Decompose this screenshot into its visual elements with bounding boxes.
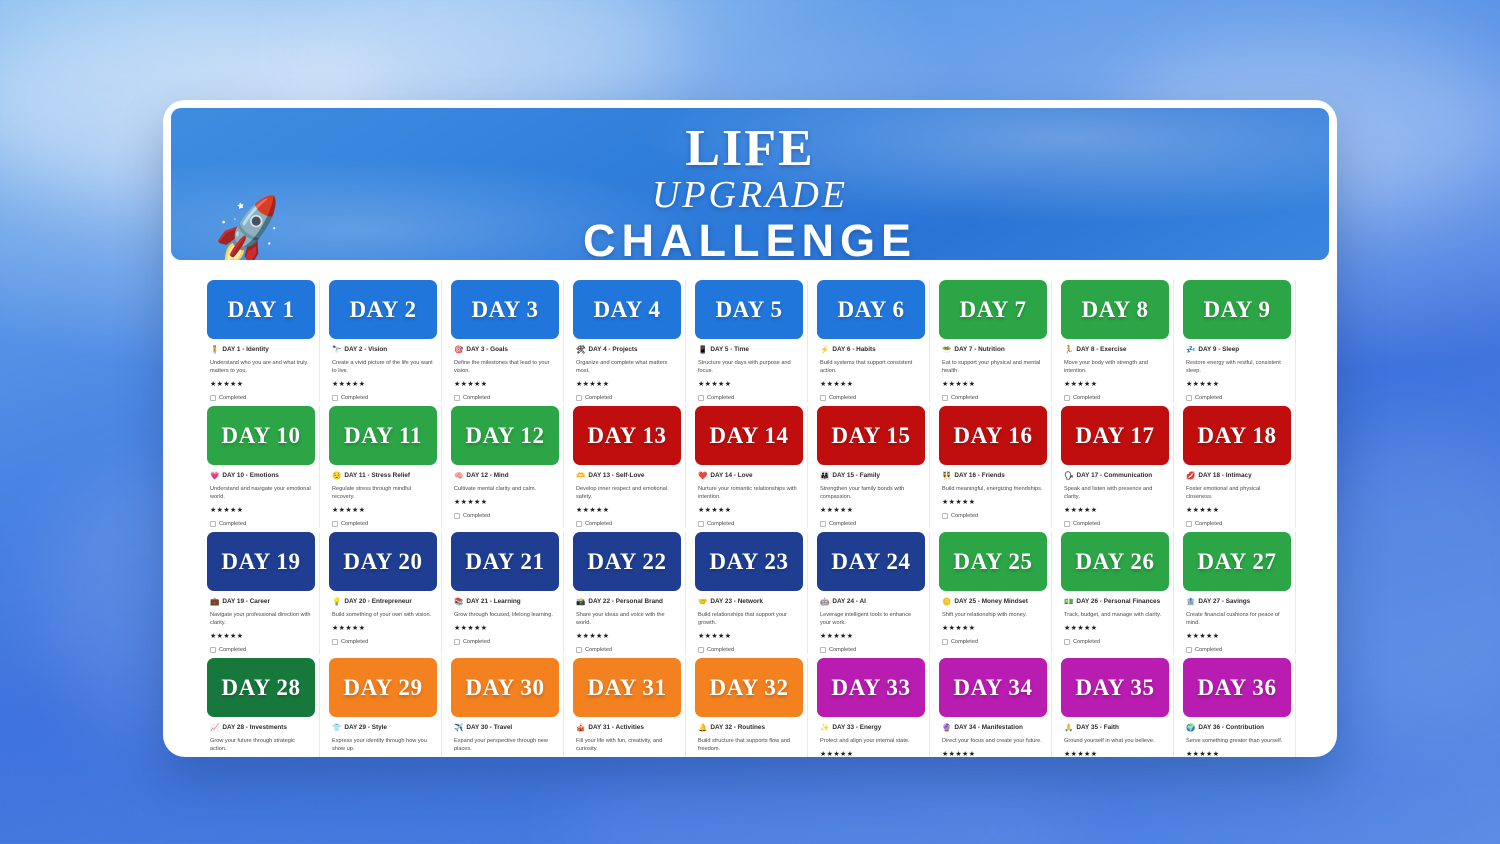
day-card-body: 📱DAY 5 - TimeStructure your days with pu…	[695, 339, 803, 402]
completed-checkbox[interactable]	[1186, 647, 1192, 653]
rating-stars[interactable]: ★★★★★	[1064, 750, 1165, 757]
completed-checkbox[interactable]	[576, 647, 582, 653]
day-card[interactable]: DAY 19💼DAY 19 - CareerNavigate your prof…	[207, 532, 320, 654]
completed-checkbox[interactable]	[210, 395, 216, 401]
completed-checkbox[interactable]	[1064, 639, 1070, 645]
day-topic-icon: 🤝	[698, 597, 707, 606]
day-card-title-row: 📸DAY 22 - Personal Brand	[576, 597, 677, 606]
day-card-header[interactable]: DAY 17	[1061, 406, 1169, 465]
completed-row[interactable]: Completed	[942, 394, 1043, 402]
completed-row[interactable]: Completed	[576, 646, 677, 654]
day-topic-icon: 👕	[332, 723, 341, 732]
completed-checkbox[interactable]	[210, 647, 216, 653]
day-card[interactable]: DAY 10💗DAY 10 - EmotionsUnderstand and n…	[207, 406, 320, 528]
day-card-body: 🏃DAY 8 - ExerciseMove your body with str…	[1061, 339, 1169, 402]
completed-row[interactable]: Completed	[332, 638, 433, 646]
day-card-description: Regulate stress through mindful recovery…	[332, 485, 433, 501]
rating-stars[interactable]: ★★★★★	[210, 380, 311, 389]
day-card-header[interactable]: DAY 6	[817, 280, 925, 339]
day-card-description: Build structure that supports flow and f…	[698, 737, 799, 753]
background-cloud	[560, 760, 1080, 844]
day-topic-icon: 🪙	[942, 597, 951, 606]
day-card-title: DAY 28 - Investments	[222, 723, 287, 732]
day-card-title-row: 🪙DAY 25 - Money Mindset	[942, 597, 1043, 606]
day-card-header[interactable]: DAY 36	[1183, 658, 1291, 717]
day-card-body: 🧠DAY 12 - MindCultivate mental clarity a…	[451, 465, 559, 520]
day-card-description: Define the milestones that lead to your …	[454, 359, 555, 375]
day-card-description: Create financial cushions for peace of m…	[1186, 611, 1287, 627]
completed-row[interactable]: Completed	[820, 646, 921, 654]
day-card-title: DAY 4 - Projects	[589, 345, 638, 354]
day-card-header[interactable]: DAY 27	[1183, 532, 1291, 591]
day-card[interactable]: DAY 20💡DAY 20 - EntrepreneurBuild someth…	[329, 532, 442, 654]
completed-row[interactable]: Completed	[576, 394, 677, 402]
day-card-header[interactable]: DAY 10	[207, 406, 315, 465]
day-card-description: Eat to support your physical and mental …	[942, 359, 1043, 375]
day-card-title-row: 💤DAY 9 - Sleep	[1186, 345, 1287, 354]
completed-label: Completed	[341, 638, 368, 646]
day-card-body: 📸DAY 22 - Personal BrandShare your ideas…	[573, 591, 681, 654]
day-card-header[interactable]: DAY 33	[817, 658, 925, 717]
completed-label: Completed	[829, 520, 856, 528]
rating-stars[interactable]: ★★★★★	[332, 624, 433, 633]
completed-checkbox[interactable]	[942, 513, 948, 519]
day-card-title-row: 💗DAY 10 - Emotions	[210, 471, 311, 480]
rating-stars[interactable]: ★★★★★	[820, 380, 921, 389]
completed-checkbox[interactable]	[820, 647, 826, 653]
completed-label: Completed	[1073, 394, 1100, 402]
day-card-title-row: 🏃DAY 8 - Exercise	[1064, 345, 1165, 354]
completed-row[interactable]: Completed	[332, 520, 433, 528]
day-card[interactable]: DAY 3🎯DAY 3 - GoalsDefine the milestones…	[451, 280, 564, 402]
day-card-title-row: 🙏DAY 35 - Faith	[1064, 723, 1165, 732]
day-card-header[interactable]: DAY 11	[329, 406, 437, 465]
completed-checkbox[interactable]	[576, 521, 582, 527]
day-card[interactable]: DAY 2🔭DAY 2 - VisionCreate a vivid pictu…	[329, 280, 442, 402]
day-card[interactable]: DAY 16👯DAY 16 - FriendsBuild meaningful,…	[939, 406, 1052, 528]
completed-label: Completed	[463, 638, 490, 646]
completed-label: Completed	[219, 394, 246, 402]
completed-row[interactable]: Completed	[210, 394, 311, 402]
day-card-description: Direct your focus and create your future…	[942, 737, 1043, 745]
rating-stars[interactable]: ★★★★★	[942, 498, 1043, 507]
completed-label: Completed	[1195, 520, 1222, 528]
day-card-title: DAY 35 - Faith	[1076, 723, 1119, 732]
rating-stars[interactable]: ★★★★★	[454, 380, 555, 389]
completed-checkbox[interactable]	[942, 395, 948, 401]
rating-stars[interactable]: ★★★★★	[820, 632, 921, 641]
completed-row[interactable]: Completed	[332, 394, 433, 402]
day-card-title: DAY 3 - Goals	[466, 345, 508, 354]
day-card-body: 🔭DAY 2 - VisionCreate a vivid picture of…	[329, 339, 437, 402]
day-card[interactable]: DAY 36🌍DAY 36 - ContributionServe someth…	[1183, 658, 1296, 757]
day-card-header[interactable]: DAY 3	[451, 280, 559, 339]
day-card-title: DAY 31 - Activities	[588, 723, 644, 732]
day-card-title-row: 👯DAY 16 - Friends	[942, 471, 1043, 480]
day-card-body: 🔮DAY 34 - ManifestationDirect your focus…	[939, 717, 1047, 757]
day-card-title: DAY 21 - Learning	[466, 597, 520, 606]
completed-row[interactable]: Completed	[454, 394, 555, 402]
day-card-header[interactable]: DAY 34	[939, 658, 1047, 717]
completed-label: Completed	[829, 646, 856, 654]
rating-stars[interactable]: ★★★★★	[942, 380, 1043, 389]
day-card-title-row: 👕DAY 29 - Style	[332, 723, 433, 732]
completed-label: Completed	[219, 646, 246, 654]
day-card-body: 🎯DAY 3 - GoalsDefine the milestones that…	[451, 339, 559, 402]
day-card-body: 🫶DAY 13 - Self-LoveDevelop inner respect…	[573, 465, 681, 528]
rating-stars[interactable]: ★★★★★	[1186, 380, 1287, 389]
day-card-header[interactable]: DAY 12	[451, 406, 559, 465]
day-card-title-row: 🏦DAY 27 - Savings	[1186, 597, 1287, 606]
day-card-header[interactable]: DAY 31	[573, 658, 681, 717]
day-topic-icon: 📸	[576, 597, 585, 606]
day-card[interactable]: DAY 30✈️DAY 30 - TravelExpand your persp…	[451, 658, 564, 757]
completed-row[interactable]: Completed	[698, 394, 799, 402]
day-card-body: 🧍DAY 1 - IdentityUnderstand who you are …	[207, 339, 315, 402]
day-card-title-row: 🗣DAY 17 - Communication	[1064, 471, 1165, 480]
rating-stars[interactable]: ★★★★★	[942, 750, 1043, 757]
day-topic-icon: 💗	[210, 471, 219, 480]
completed-checkbox[interactable]	[942, 639, 948, 645]
day-card-body: 👕DAY 29 - StyleExpress your identity thr…	[329, 717, 437, 757]
day-topic-icon: 🧠	[454, 471, 463, 480]
day-card-description: Develop inner respect and emotional safe…	[576, 485, 677, 501]
rating-stars[interactable]: ★★★★★	[1064, 506, 1165, 515]
day-card[interactable]: DAY 1🧍DAY 1 - IdentityUnderstand who you…	[207, 280, 320, 402]
completed-checkbox[interactable]	[210, 521, 216, 527]
day-topic-icon: 🙏	[1064, 723, 1073, 732]
day-card-description: Leverage intelligent tools to enhance yo…	[820, 611, 921, 627]
completed-checkbox[interactable]	[454, 639, 460, 645]
day-topic-icon: 💡	[332, 597, 341, 606]
day-card[interactable]: DAY 31🎪DAY 31 - ActivitiesFill your life…	[573, 658, 686, 757]
day-card-title: DAY 12 - Mind	[466, 471, 508, 480]
completed-label: Completed	[463, 512, 490, 520]
day-card-title: DAY 6 - Habits	[832, 345, 875, 354]
day-card-header[interactable]: DAY 8	[1061, 280, 1169, 339]
completed-checkbox[interactable]	[698, 521, 704, 527]
day-card-title-row: 🎯DAY 3 - Goals	[454, 345, 555, 354]
day-card-description: Express your identity through how you sh…	[332, 737, 433, 753]
banner-title-block: LIFE UPGRADE CHALLENGE	[171, 124, 1329, 260]
day-card-title: DAY 10 - Emotions	[222, 471, 278, 480]
rating-stars[interactable]: ★★★★★	[210, 632, 311, 641]
day-card-description: Organize and complete what matters most.	[576, 359, 677, 375]
rating-stars[interactable]: ★★★★★	[698, 380, 799, 389]
day-card-title-row: ✨DAY 33 - Energy	[820, 723, 921, 732]
completed-label: Completed	[1195, 394, 1222, 402]
completed-checkbox[interactable]	[1064, 521, 1070, 527]
completed-checkbox[interactable]	[1186, 521, 1192, 527]
day-card-body: 😌DAY 11 - Stress ReliefRegulate stress t…	[329, 465, 437, 528]
day-card-title-row: 😌DAY 11 - Stress Relief	[332, 471, 433, 480]
rating-stars[interactable]: ★★★★★	[576, 380, 677, 389]
day-card-description: Share your ideas and voice with the worl…	[576, 611, 677, 627]
day-card-header[interactable]: DAY 2	[329, 280, 437, 339]
day-card[interactable]: DAY 8🏃DAY 8 - ExerciseMove your body wit…	[1061, 280, 1174, 402]
day-card[interactable]: DAY 12🧠DAY 12 - MindCultivate mental cla…	[451, 406, 564, 528]
day-card[interactable]: DAY 26💵DAY 26 - Personal FinancesTrack, …	[1061, 532, 1174, 654]
day-card[interactable]: DAY 22📸DAY 22 - Personal BrandShare your…	[573, 532, 686, 654]
completed-row[interactable]: Completed	[1186, 520, 1287, 528]
day-card-header[interactable]: DAY 20	[329, 532, 437, 591]
completed-row[interactable]: Completed	[1186, 394, 1287, 402]
day-card[interactable]: DAY 17🗣DAY 17 - CommunicationSpeak and l…	[1061, 406, 1174, 528]
rating-stars[interactable]: ★★★★★	[820, 750, 921, 757]
day-card-header[interactable]: DAY 1	[207, 280, 315, 339]
day-card-header[interactable]: DAY 25	[939, 532, 1047, 591]
completed-row[interactable]: Completed	[210, 520, 311, 528]
day-topic-icon: 🔭	[332, 345, 341, 354]
rating-stars[interactable]: ★★★★★	[210, 506, 311, 515]
day-card-body: ✨DAY 33 - EnergyProtect and align your i…	[817, 717, 925, 757]
day-card-header[interactable]: DAY 4	[573, 280, 681, 339]
completed-label: Completed	[951, 512, 978, 520]
day-card-title-row: 🫶DAY 13 - Self-Love	[576, 471, 677, 480]
day-card[interactable]: DAY 35🙏DAY 35 - FaithGround yourself in …	[1061, 658, 1174, 757]
rating-stars[interactable]: ★★★★★	[820, 506, 921, 515]
day-card-title: DAY 16 - Friends	[954, 471, 1004, 480]
day-card-body: 🤖DAY 24 - AILeverage intelligent tools t…	[817, 591, 925, 654]
day-topic-icon: 📱	[698, 345, 707, 354]
day-card-body: 🤝DAY 23 - NetworkBuild relationships tha…	[695, 591, 803, 654]
day-card-body: 👯DAY 16 - FriendsBuild meaningful, energ…	[939, 465, 1047, 520]
day-card-title: DAY 29 - Style	[344, 723, 387, 732]
day-card-grid: DAY 1🧍DAY 1 - IdentityUnderstand who you…	[207, 280, 1297, 757]
day-topic-icon: 💤	[1186, 345, 1195, 354]
day-card-header[interactable]: DAY 21	[451, 532, 559, 591]
completed-checkbox[interactable]	[332, 639, 338, 645]
completed-label: Completed	[829, 394, 856, 402]
completed-row[interactable]: Completed	[1064, 520, 1165, 528]
day-topic-icon: 🧍	[210, 345, 219, 354]
day-card[interactable]: DAY 15👨‍👩‍👧DAY 15 - FamilyStrengthen you…	[817, 406, 930, 528]
rocket-icon: 🚀	[209, 197, 290, 260]
day-card-title-row: ✈️DAY 30 - Travel	[454, 723, 555, 732]
day-topic-icon: 👨‍👩‍👧	[820, 471, 829, 480]
day-card-title-row: 🎪DAY 31 - Activities	[576, 723, 677, 732]
rating-stars[interactable]: ★★★★★	[942, 624, 1043, 633]
completed-checkbox[interactable]	[698, 395, 704, 401]
day-card-title-row: 💼DAY 19 - Career	[210, 597, 311, 606]
day-card[interactable]: DAY 11😌DAY 11 - Stress ReliefRegulate st…	[329, 406, 442, 528]
rating-stars[interactable]: ★★★★★	[1186, 632, 1287, 641]
day-card-title-row: 📈DAY 28 - Investments	[210, 723, 311, 732]
day-card-description: Move your body with strength and intenti…	[1064, 359, 1165, 375]
completed-row[interactable]: Completed	[942, 512, 1043, 520]
completed-row[interactable]: Completed	[1064, 638, 1165, 646]
day-card-title: DAY 22 - Personal Brand	[588, 597, 663, 606]
rating-stars[interactable]: ★★★★★	[576, 632, 677, 641]
rating-stars[interactable]: ★★★★★	[332, 380, 433, 389]
day-topic-icon: 🏃	[1064, 345, 1073, 354]
day-card[interactable]: DAY 5📱DAY 5 - TimeStructure your days wi…	[695, 280, 808, 402]
completed-checkbox[interactable]	[454, 395, 460, 401]
completed-checkbox[interactable]	[820, 521, 826, 527]
title-life: LIFE	[171, 124, 1329, 174]
day-card[interactable]: DAY 34🔮DAY 34 - ManifestationDirect your…	[939, 658, 1052, 757]
completed-row[interactable]: Completed	[1186, 646, 1287, 654]
day-card[interactable]: DAY 4🛠DAY 4 - ProjectsOrganize and compl…	[573, 280, 686, 402]
completed-row[interactable]: Completed	[1064, 394, 1165, 402]
day-card-title-row: 🔔DAY 32 - Routines	[698, 723, 799, 732]
completed-label: Completed	[951, 394, 978, 402]
completed-row[interactable]: Completed	[698, 520, 799, 528]
completed-checkbox[interactable]	[454, 513, 460, 519]
completed-checkbox[interactable]	[698, 647, 704, 653]
day-card-header[interactable]: DAY 32	[695, 658, 803, 717]
day-card[interactable]: DAY 18💋DAY 18 - IntimacyFoster emotional…	[1183, 406, 1296, 528]
day-topic-icon: 👯	[942, 471, 951, 480]
rating-stars[interactable]: ★★★★★	[454, 498, 555, 507]
rating-stars[interactable]: ★★★★★	[1064, 380, 1165, 389]
day-card[interactable]: DAY 33✨DAY 33 - EnergyProtect and align …	[817, 658, 930, 757]
day-card-body: ✈️DAY 30 - TravelExpand your perspective…	[451, 717, 559, 757]
day-card-description: Grow through focused, lifelong learning.	[454, 611, 555, 619]
completed-row[interactable]: Completed	[576, 520, 677, 528]
completed-label: Completed	[707, 394, 734, 402]
day-card-description: Track, budget, and manage with clarity.	[1064, 611, 1165, 619]
day-topic-icon: 📚	[454, 597, 463, 606]
day-card-title: DAY 14 - Love	[710, 471, 752, 480]
day-topic-icon: 💼	[210, 597, 219, 606]
day-card-body: 💵DAY 26 - Personal FinancesTrack, budget…	[1061, 591, 1169, 646]
day-card-title-row: 🤖DAY 24 - AI	[820, 597, 921, 606]
day-card-header[interactable]: DAY 24	[817, 532, 925, 591]
day-card-body: 💡DAY 20 - EntrepreneurBuild something of…	[329, 591, 437, 646]
day-card-title: DAY 24 - AI	[832, 597, 866, 606]
rating-stars[interactable]: ★★★★★	[1186, 750, 1287, 757]
rating-stars[interactable]: ★★★★★	[698, 506, 799, 515]
day-card[interactable]: DAY 13🫶DAY 13 - Self-LoveDevelop inner r…	[573, 406, 686, 528]
day-card-header[interactable]: DAY 35	[1061, 658, 1169, 717]
day-card-title-row: 🌍DAY 36 - Contribution	[1186, 723, 1287, 732]
day-topic-icon: 🛠	[576, 345, 586, 354]
day-card-body: ❤️DAY 14 - LoveNurture your romantic rel…	[695, 465, 803, 528]
day-card-body: 🌍DAY 36 - ContributionServe something gr…	[1183, 717, 1291, 757]
completed-row[interactable]: Completed	[820, 520, 921, 528]
day-card-header[interactable]: DAY 5	[695, 280, 803, 339]
day-card-title-row: 🔭DAY 2 - Vision	[332, 345, 433, 354]
day-topic-icon: 💵	[1064, 597, 1073, 606]
day-card-description: Protect and align your internal state.	[820, 737, 921, 745]
rating-stars[interactable]: ★★★★★	[454, 624, 555, 633]
day-card-header[interactable]: DAY 22	[573, 532, 681, 591]
completed-checkbox[interactable]	[820, 395, 826, 401]
day-card-title: DAY 8 - Exercise	[1076, 345, 1126, 354]
day-card-header[interactable]: DAY 9	[1183, 280, 1291, 339]
day-card[interactable]: DAY 24🤖DAY 24 - AILeverage intelligent t…	[817, 532, 930, 654]
day-card-header[interactable]: DAY 26	[1061, 532, 1169, 591]
day-card-header[interactable]: DAY 30	[451, 658, 559, 717]
day-card[interactable]: DAY 9💤DAY 9 - SleepRestore energy with r…	[1183, 280, 1296, 402]
rating-stars[interactable]: ★★★★★	[1064, 624, 1165, 633]
completed-checkbox[interactable]	[1064, 395, 1070, 401]
day-card-title-row: 💡DAY 20 - Entrepreneur	[332, 597, 433, 606]
day-card-body: 🪙DAY 25 - Money MindsetShift your relati…	[939, 591, 1047, 646]
day-card-body: 🏦DAY 27 - SavingsCreate financial cushio…	[1183, 591, 1291, 654]
day-card-title: DAY 33 - Energy	[832, 723, 881, 732]
day-card-title: DAY 26 - Personal Finances	[1076, 597, 1160, 606]
day-card-description: Structure your days with purpose and foc…	[698, 359, 799, 375]
day-card-body: 🥗DAY 7 - NutritionEat to support your ph…	[939, 339, 1047, 402]
title-challenge: CHALLENGE	[171, 216, 1329, 260]
day-card-description: Grow your future through strategic actio…	[210, 737, 311, 753]
day-card-title-row: 🛠DAY 4 - Projects	[576, 345, 677, 354]
completed-row[interactable]: Completed	[698, 646, 799, 654]
day-card[interactable]: DAY 32🔔DAY 32 - RoutinesBuild structure …	[695, 658, 808, 757]
day-card-description: Build meaningful, energizing friendships…	[942, 485, 1043, 493]
day-card-title: DAY 27 - Savings	[1198, 597, 1250, 606]
completed-row[interactable]: Completed	[942, 638, 1043, 646]
day-card[interactable]: DAY 7🥗DAY 7 - NutritionEat to support yo…	[939, 280, 1052, 402]
day-topic-icon: 🥗	[942, 345, 951, 354]
day-card-body: ⚡DAY 6 - HabitsBuild systems that suppor…	[817, 339, 925, 402]
completed-row[interactable]: Completed	[820, 394, 921, 402]
completed-checkbox[interactable]	[332, 395, 338, 401]
day-topic-icon: ✨	[820, 723, 829, 732]
day-card-header[interactable]: DAY 28	[207, 658, 315, 717]
day-card-title-row: ⚡DAY 6 - Habits	[820, 345, 921, 354]
rating-stars[interactable]: ★★★★★	[332, 506, 433, 515]
day-card-header[interactable]: DAY 19	[207, 532, 315, 591]
completed-label: Completed	[707, 646, 734, 654]
completed-row[interactable]: Completed	[210, 646, 311, 654]
day-card-description: Restore energy with restful, consistent …	[1186, 359, 1287, 375]
day-card[interactable]: DAY 6⚡DAY 6 - HabitsBuild systems that s…	[817, 280, 930, 402]
completed-label: Completed	[341, 520, 368, 528]
day-card-description: Nurture your romantic relationships with…	[698, 485, 799, 501]
day-topic-icon: 🎪	[576, 723, 585, 732]
day-card-body: 🛠DAY 4 - ProjectsOrganize and complete w…	[573, 339, 681, 402]
day-card-body: 🗣DAY 17 - CommunicationSpeak and listen …	[1061, 465, 1169, 528]
rating-stars[interactable]: ★★★★★	[698, 632, 799, 641]
day-card[interactable]: DAY 28📈DAY 28 - InvestmentsGrow your fut…	[207, 658, 320, 757]
day-topic-icon: ✈️	[454, 723, 463, 732]
rating-stars[interactable]: ★★★★★	[576, 506, 677, 515]
day-card-header[interactable]: DAY 16	[939, 406, 1047, 465]
day-card-description: Fill your life with fun, creativity, and…	[576, 737, 677, 753]
day-card-header[interactable]: DAY 18	[1183, 406, 1291, 465]
day-card-title-row: ❤️DAY 14 - Love	[698, 471, 799, 480]
day-card[interactable]: DAY 29👕DAY 29 - StyleExpress your identi…	[329, 658, 442, 757]
day-card-header[interactable]: DAY 15	[817, 406, 925, 465]
completed-checkbox[interactable]	[576, 395, 582, 401]
day-card[interactable]: DAY 25🪙DAY 25 - Money MindsetShift your …	[939, 532, 1052, 654]
day-card[interactable]: DAY 27🏦DAY 27 - SavingsCreate financial …	[1183, 532, 1296, 654]
day-topic-icon: ❤️	[698, 471, 707, 480]
completed-checkbox[interactable]	[332, 521, 338, 527]
day-card-header[interactable]: DAY 29	[329, 658, 437, 717]
day-card[interactable]: DAY 23🤝DAY 23 - NetworkBuild relationshi…	[695, 532, 808, 654]
day-card[interactable]: DAY 21📚DAY 21 - LearningGrow through foc…	[451, 532, 564, 654]
day-topic-icon: 📈	[210, 723, 219, 732]
day-card-body: 👨‍👩‍👧DAY 15 - FamilyStrengthen your fami…	[817, 465, 925, 528]
day-card-header[interactable]: DAY 13	[573, 406, 681, 465]
day-card-title: DAY 18 - Intimacy	[1198, 471, 1251, 480]
day-card-title: DAY 15 - Family	[832, 471, 880, 480]
day-topic-icon: 🗣	[1064, 471, 1074, 480]
completed-checkbox[interactable]	[1186, 395, 1192, 401]
day-card-header[interactable]: DAY 14	[695, 406, 803, 465]
day-topic-icon: 🎯	[454, 345, 463, 354]
completed-row[interactable]: Completed	[454, 512, 555, 520]
completed-row[interactable]: Completed	[454, 638, 555, 646]
day-card-header[interactable]: DAY 7	[939, 280, 1047, 339]
day-card[interactable]: DAY 14❤️DAY 14 - LoveNurture your romant…	[695, 406, 808, 528]
day-card-header[interactable]: DAY 23	[695, 532, 803, 591]
rating-stars[interactable]: ★★★★★	[1186, 506, 1287, 515]
